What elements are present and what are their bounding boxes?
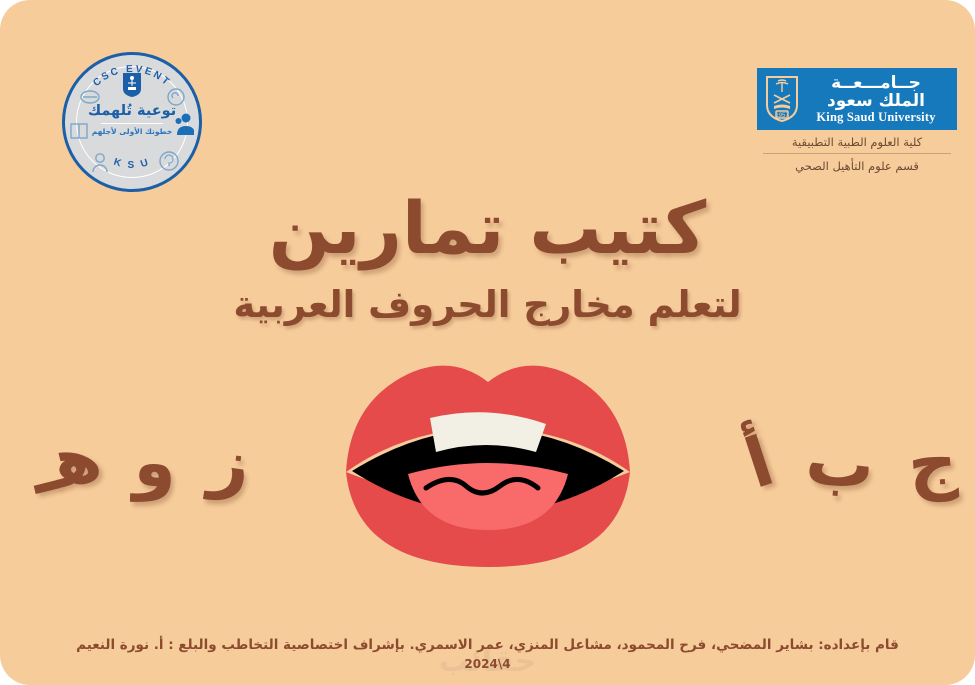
letter-waw: و — [133, 429, 178, 498]
ksu-arabic-line-2: الملك سعود — [805, 93, 947, 111]
page-title: كتيب تمارين — [0, 186, 975, 270]
arabic-letters-left: ز و هـ — [30, 430, 250, 498]
child-mini-icon — [90, 152, 110, 174]
badge-main-label: توعية تُلهمك — [62, 104, 202, 120]
cover-page: CSC EVENT K S U — [0, 0, 975, 685]
arabic-letters-right: ج ب أ — [748, 430, 957, 498]
ksu-department-label: قسم علوم التأهيل الصحي — [757, 154, 957, 173]
letter-baa: ب — [802, 427, 877, 502]
footer: قام بإعداده: بشاير المضحي، فرح المحمود، … — [0, 635, 975, 671]
open-mouth-illustration — [338, 362, 638, 577]
footer-credits: قام بإعداده: بشاير المضحي، فرح المحمود، … — [0, 635, 975, 655]
footer-date: 2024\4 — [0, 657, 975, 671]
letter-alef: أ — [738, 428, 781, 500]
ksu-emblem-icon: 1957 — [765, 75, 799, 123]
badge-divider — [101, 123, 163, 125]
page-subtitle: لتعلم مخارج الحروف العربية — [0, 283, 975, 326]
ksu-logo-wordmark: جــامـــعــة الملك سعود King Saud Univer… — [805, 75, 947, 124]
ksu-logo: جــامـــعــة الملك سعود King Saud Univer… — [757, 68, 957, 173]
letter-zay: ز — [206, 428, 254, 501]
ksu-emblem-year: 1957 — [775, 113, 789, 119]
letter-haa: هـ — [23, 422, 108, 505]
badge-sub-label: خطوتك الأولى لأجلهم — [62, 127, 202, 136]
ksu-english-name: King Saud University — [805, 111, 947, 124]
letter-jeem: ج — [906, 428, 960, 499]
shield-icon — [122, 72, 142, 98]
csc-event-badge: CSC EVENT K S U — [62, 52, 202, 192]
ksu-logo-bar: جــامـــعــة الملك سعود King Saud Univer… — [757, 68, 957, 130]
ksu-college-label: كلية العلوم الطبية التطبيقية — [757, 130, 957, 149]
head-speech-mini-icon — [158, 150, 180, 172]
badge-center-text: توعية تُلهمك خطوتك الأولى لأجلهم — [62, 104, 202, 136]
